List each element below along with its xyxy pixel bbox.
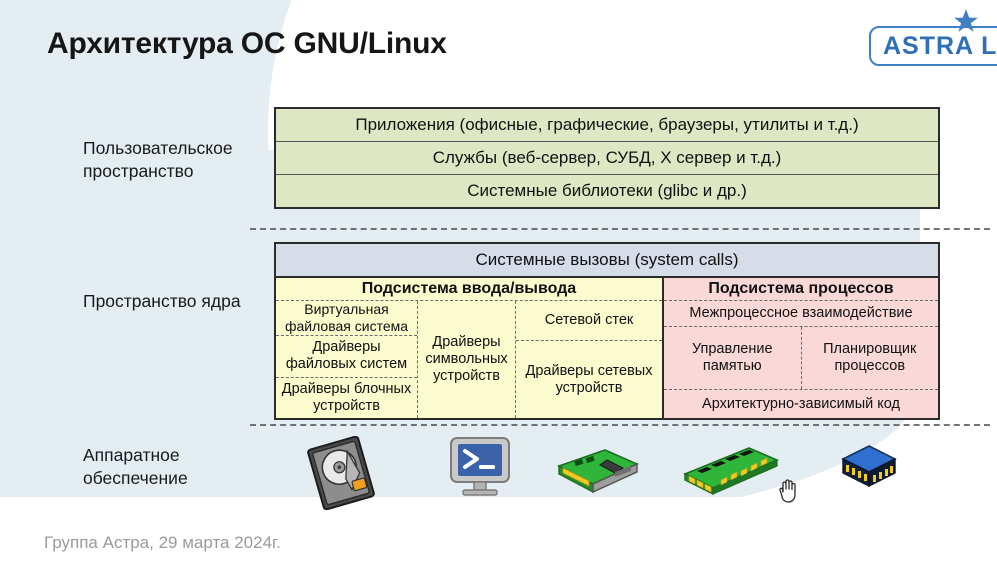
page-title: Архитектура ОС GNU/Linux (47, 27, 447, 61)
astra-linux-logo-text: ASTRA LIN (883, 32, 997, 61)
cell-char-device-drivers: Драйверы символьных устройств (418, 301, 515, 418)
kernel-space-block: Системные вызовы (system calls) Подсисте… (274, 242, 940, 420)
io-subsystem-body: Виртуальная файловая система Драйверы фа… (276, 301, 662, 418)
cpu-chip-icon (838, 442, 900, 496)
system-calls-band: Системные вызовы (system calls) (276, 244, 938, 278)
cell-architecture-dependent-code: Архитектурно-зависимый код (664, 390, 938, 418)
cell-network-stack: Сетевой стек (516, 301, 662, 341)
divider-kernel-hardware (250, 424, 990, 426)
process-subsystem: Подсистема процессов Межпроцессное взаим… (664, 278, 938, 418)
io-subsystem-title: Подсистема ввода/вывода (276, 278, 662, 301)
cell-filesystem-drivers: Драйверы файловых систем (276, 336, 417, 378)
user-space-block: Приложения (офисные, графические, браузе… (274, 107, 940, 209)
cell-network-device-drivers: Драйверы сетевых устройств (516, 341, 662, 418)
io-right-column: Сетевой стек Драйверы сетевых устройств (516, 301, 662, 418)
io-left-column: Виртуальная файловая система Драйверы фа… (276, 301, 418, 418)
process-middle-row: Управление памятью Планировщик процессов (664, 327, 938, 390)
cell-process-scheduler: Планировщик процессов (802, 327, 939, 389)
memory-module-icon (681, 444, 781, 498)
kernel-columns: Подсистема ввода/вывода Виртуальная файл… (276, 278, 938, 418)
star-icon (953, 8, 979, 34)
user-space-row-services: Службы (веб-сервер, СУБД, X сервер и т.д… (276, 142, 938, 175)
hard-disk-icon (303, 436, 379, 510)
hand-cursor-icon (777, 477, 799, 503)
io-middle-column: Драйверы символьных устройств (418, 301, 516, 418)
process-subsystem-title: Подсистема процессов (664, 278, 938, 301)
terminal-monitor-icon (447, 436, 513, 498)
section-label-user-space: Пользовательское пространство (83, 137, 283, 183)
cell-memory-management: Управление памятью (664, 327, 802, 389)
user-space-row-libraries: Системные библиотеки (glibc и др.) (276, 175, 938, 207)
section-label-hardware: Аппаратное обеспечение (83, 444, 283, 490)
user-space-row-applications: Приложения (офисные, графические, браузе… (276, 109, 938, 142)
footer-caption: Группа Астра, 29 марта 2024г. (44, 533, 281, 553)
cell-interprocess-communication: Межпроцессное взаимодействие (664, 301, 938, 327)
divider-user-kernel (250, 228, 990, 230)
io-subsystem: Подсистема ввода/вывода Виртуальная файл… (276, 278, 664, 418)
process-subsystem-body: Межпроцессное взаимодействие Управление … (664, 301, 938, 418)
cell-block-device-drivers: Драйверы блочных устройств (276, 378, 417, 419)
cell-virtual-file-system: Виртуальная файловая система (276, 301, 417, 336)
section-label-kernel-space: Пространство ядра (83, 290, 283, 313)
network-card-icon (555, 446, 641, 496)
